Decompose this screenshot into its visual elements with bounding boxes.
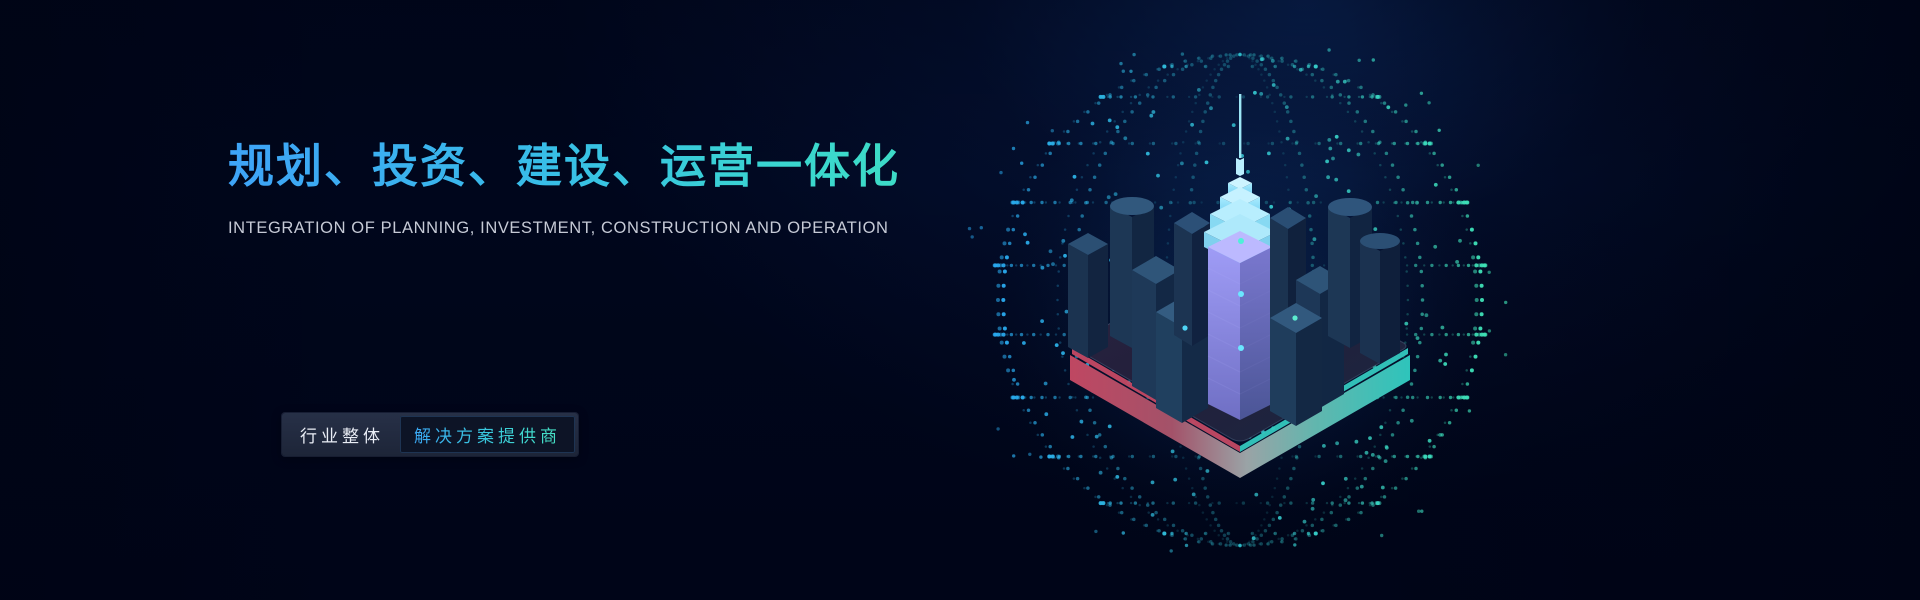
- hero-copy: 规划、投资、建设、运营一体化 INTEGRATION OF PLANNING, …: [228, 138, 1048, 238]
- building-right-front: [1270, 303, 1322, 426]
- tower-face-right: [1240, 247, 1272, 420]
- tagline-badge-right-label: 解决方案提供商: [414, 422, 561, 447]
- tagline-badge-left: 行业整体: [282, 413, 400, 456]
- building-far-left: [1068, 233, 1108, 358]
- page-title: 规划、投资、建设、运营一体化: [228, 138, 1048, 196]
- tagline-badge: 行业整体 解决方案提供商: [282, 413, 578, 456]
- tagline-badge-right: 解决方案提供商: [400, 416, 575, 453]
- page-subtitle: INTEGRATION OF PLANNING, INVESTMENT, CON…: [228, 219, 1048, 238]
- illustration-smart-city-globe: [960, 28, 1520, 573]
- tower-antenna: [1239, 94, 1241, 158]
- tower-face-left: [1208, 247, 1240, 420]
- hero-banner: 规划、投资、建设、运营一体化 INTEGRATION OF PLANNING, …: [0, 0, 1920, 600]
- building-far-right-round: [1360, 233, 1400, 364]
